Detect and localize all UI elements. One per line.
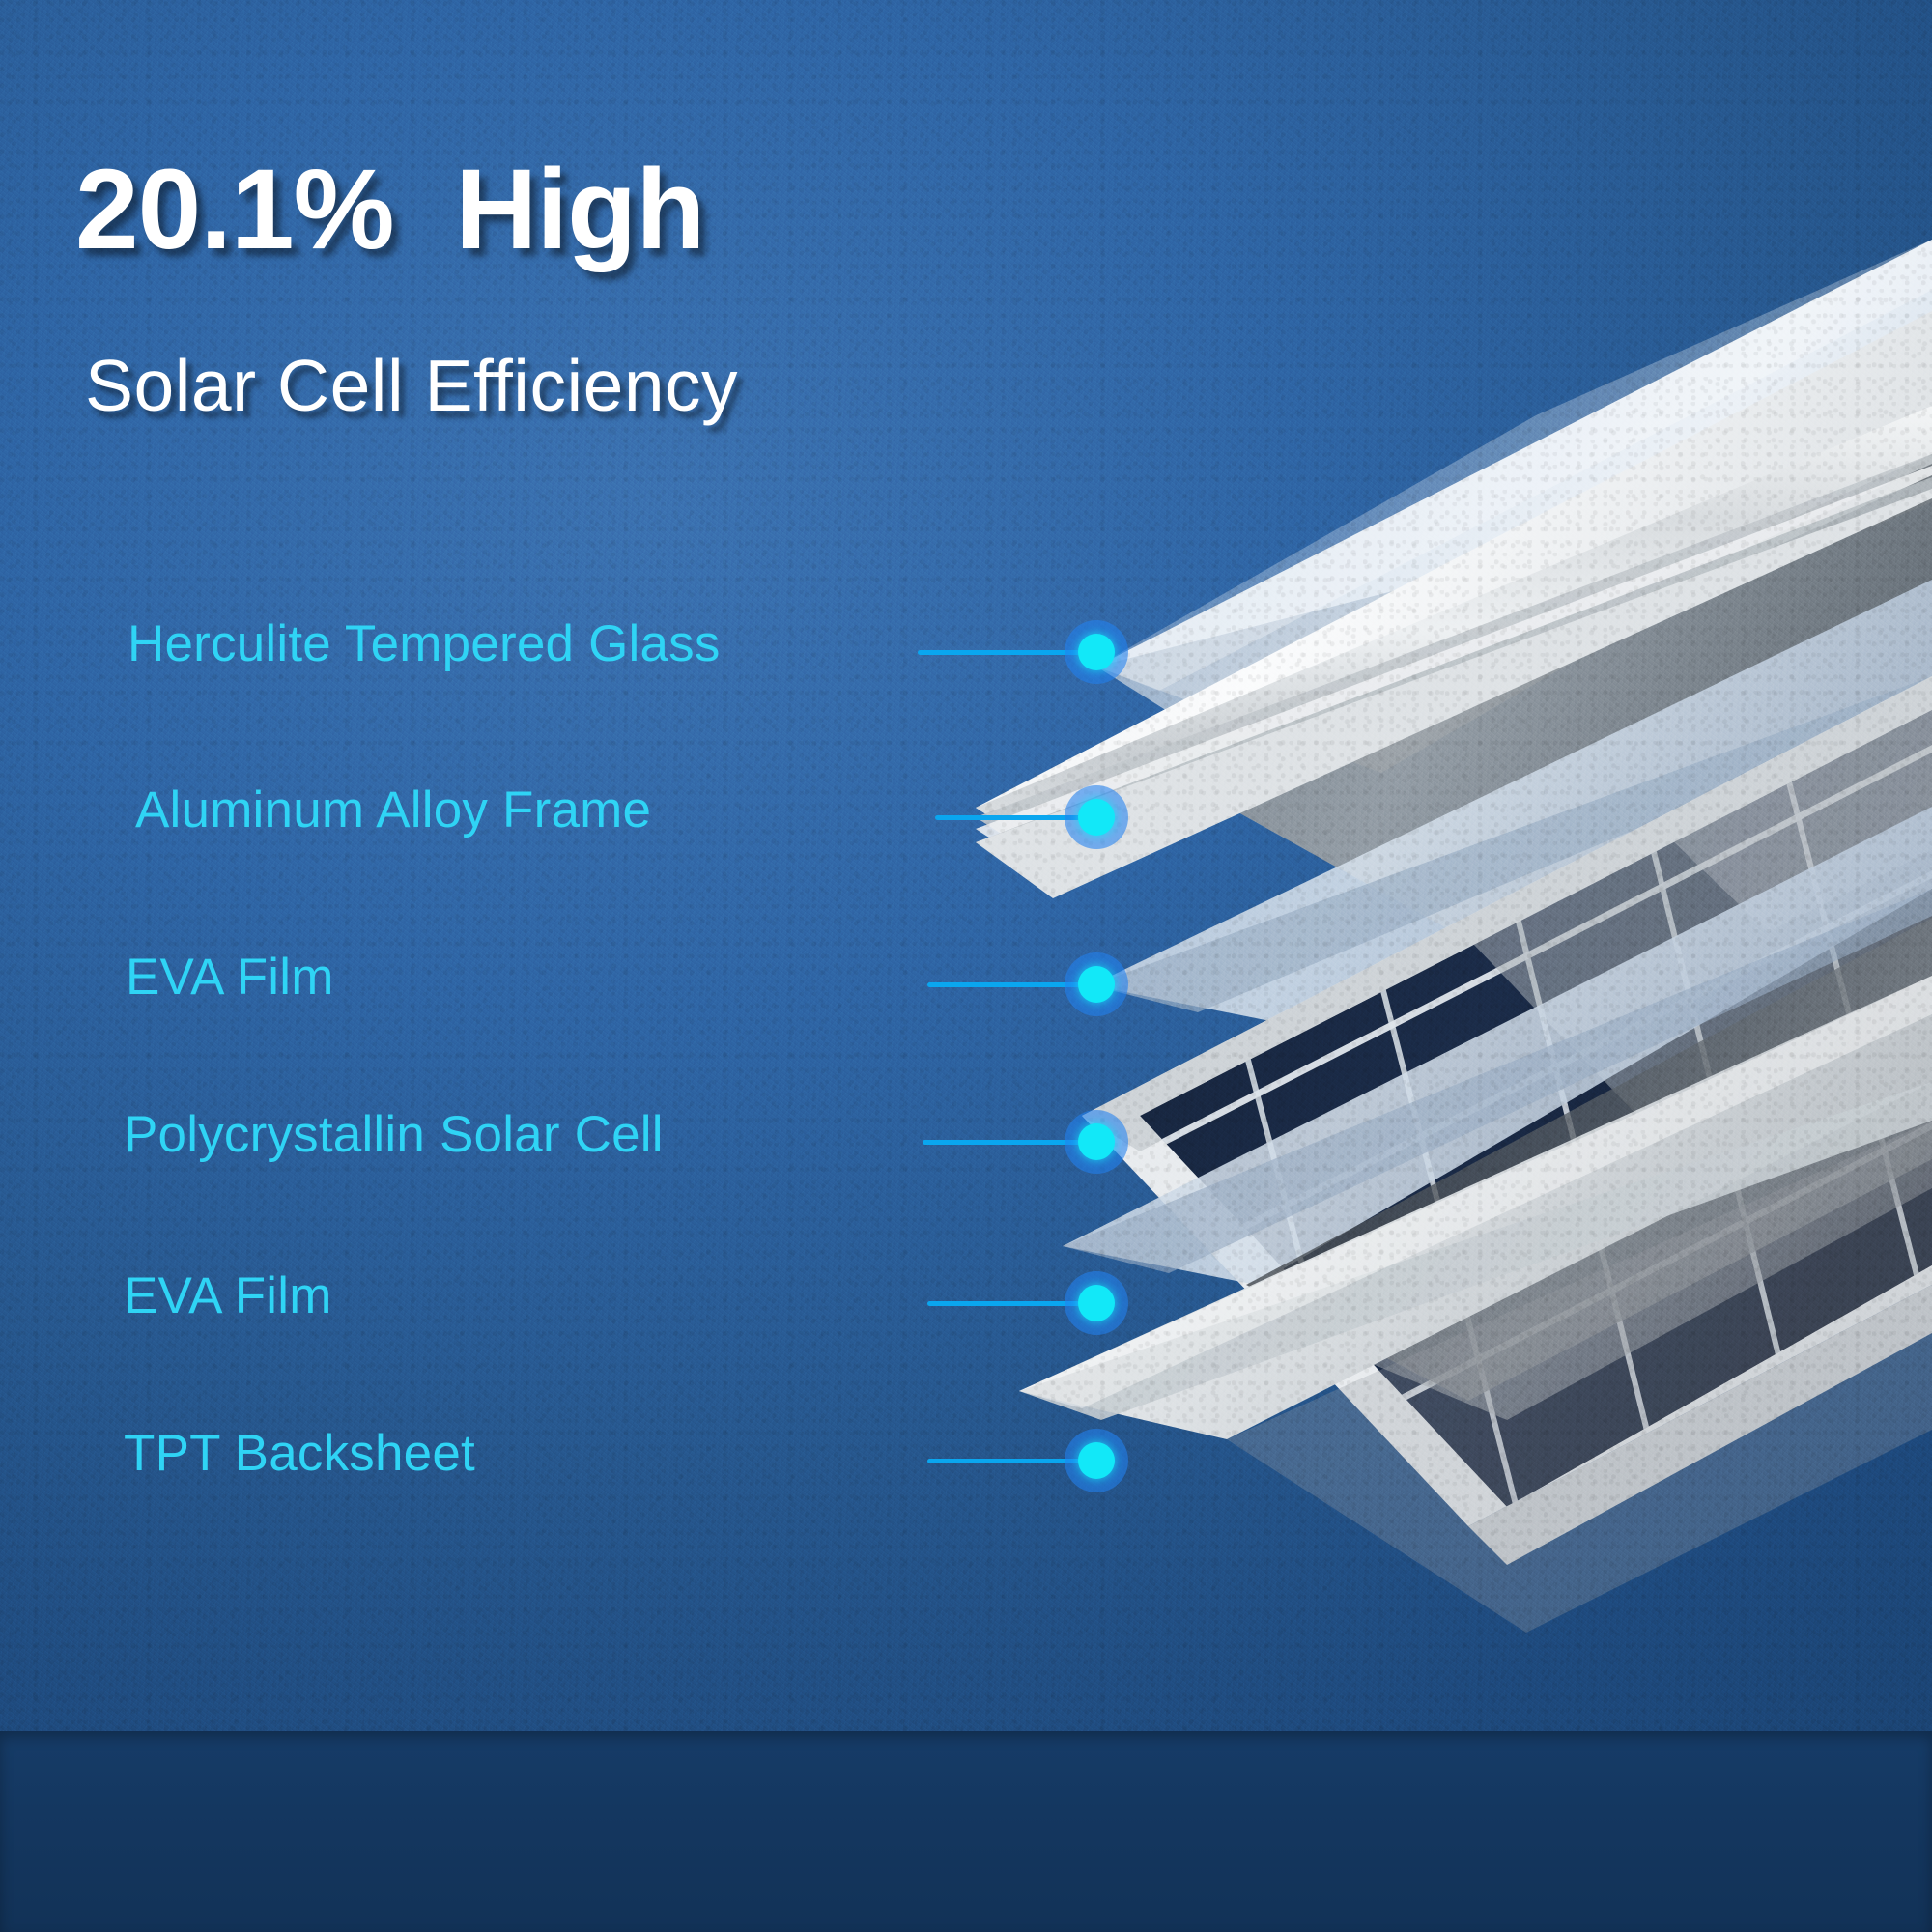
leader-line-eva-film-top: [927, 982, 1080, 987]
marker-dot-eva-film-top[interactable]: [1065, 952, 1128, 1016]
callout-label-eva-film-bottom: EVA Film: [124, 1270, 332, 1321]
leader-line-herculite-tempered-glass: [918, 650, 1080, 655]
leader-line-eva-film-bottom: [927, 1301, 1080, 1306]
marker-dot-herculite-tempered-glass[interactable]: [1065, 620, 1128, 684]
callout-label-herculite-tempered-glass: Herculite Tempered Glass: [128, 618, 721, 669]
marker-dot-tpt-backsheet[interactable]: [1065, 1429, 1128, 1492]
callout-label-aluminum-alloy-frame: Aluminum Alloy Frame: [135, 784, 651, 836]
headline-efficiency: 20.1% High: [75, 153, 704, 267]
leader-line-polycrystallin-solar-cell: [923, 1140, 1080, 1145]
callout-label-polycrystallin-solar-cell: Polycrystallin Solar Cell: [124, 1109, 664, 1160]
bottom-band: [0, 1731, 1932, 1932]
subheadline: Solar Cell Efficiency: [85, 350, 738, 422]
leader-line-tpt-backsheet: [927, 1459, 1080, 1463]
callout-label-tpt-backsheet: TPT Backsheet: [124, 1428, 475, 1479]
marker-dot-eva-film-bottom[interactable]: [1065, 1271, 1128, 1335]
leader-line-aluminum-alloy-frame: [935, 815, 1080, 820]
callout-label-eva-film-top: EVA Film: [126, 952, 334, 1003]
infographic-canvas: 20.1% High Solar Cell Efficiency Herculi…: [0, 0, 1932, 1932]
marker-dot-aluminum-alloy-frame[interactable]: [1065, 785, 1128, 849]
marker-dot-polycrystallin-solar-cell[interactable]: [1065, 1110, 1128, 1174]
